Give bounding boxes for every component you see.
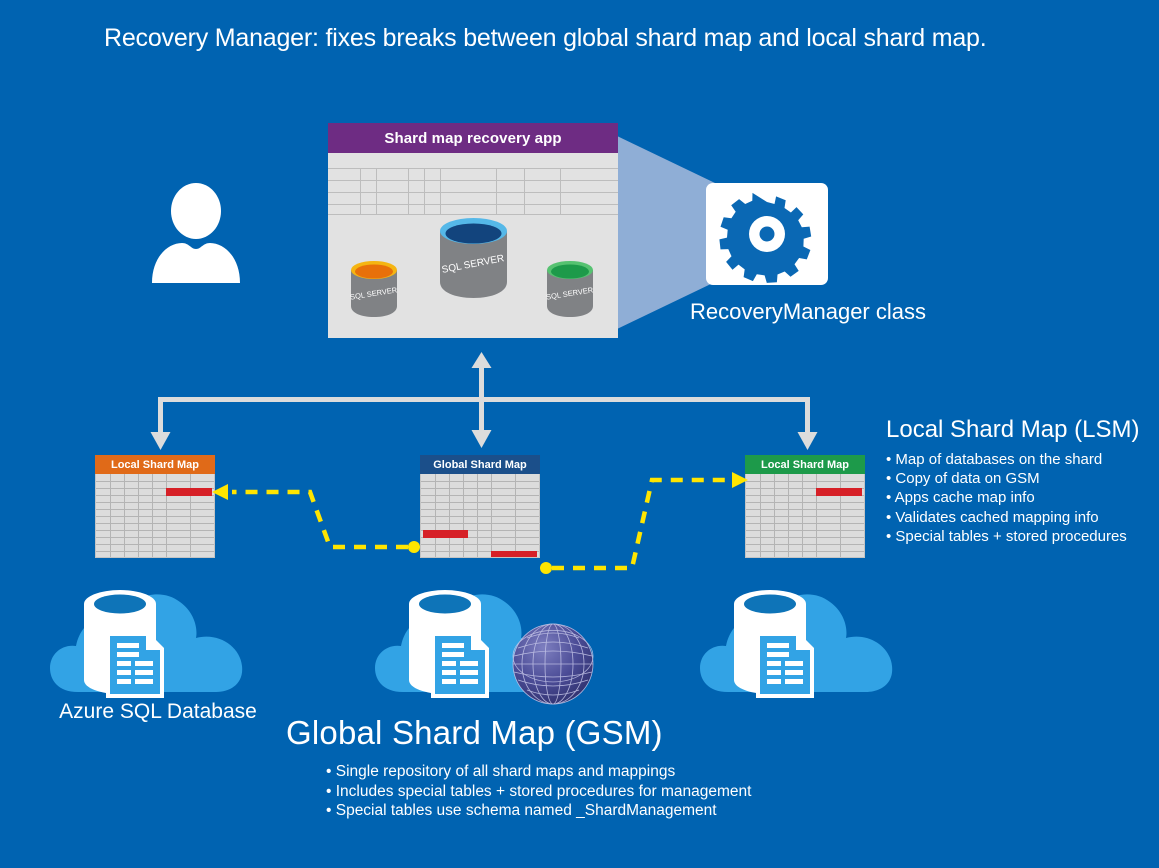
- sql-server-database-large-blue[interactable]: SQL SERVER: [436, 211, 511, 301]
- connector-left: [212, 484, 420, 553]
- lsm-heading: Local Shard Map (LSM): [886, 416, 1158, 444]
- gsm-bullet-list: • Single repository of all shard maps an…: [326, 762, 886, 821]
- list-item: • Validates cached mapping info: [886, 508, 1158, 527]
- app-window-title: Shard map recovery app: [328, 123, 618, 153]
- connector-right: [540, 472, 748, 574]
- gsm-info-block: Global Shard Map (GSM) • Single reposito…: [286, 714, 886, 821]
- list-item: • Special tables + stored procedures: [886, 527, 1158, 546]
- list-item: • Includes special tables + stored proce…: [326, 782, 886, 802]
- shard-map-recovery-app-window[interactable]: Shard map recovery app SQL SERVER: [328, 123, 618, 338]
- azure-sql-database-icon[interactable]: [48, 580, 263, 700]
- azure-sql-database-label: Azure SQL Database: [38, 700, 278, 724]
- gear-icon: [706, 183, 828, 285]
- list-item: • Single repository of all shard maps an…: [326, 762, 886, 782]
- recovery-manager-tile[interactable]: [706, 183, 828, 285]
- list-item: • Copy of data on GSM: [886, 469, 1158, 488]
- list-item: • Apps cache map info: [886, 488, 1158, 507]
- lsm-info-block: Local Shard Map (LSM) • Map of databases…: [886, 416, 1158, 546]
- lsm-bullet-list: • Map of databases on the shard • Copy o…: [886, 450, 1158, 546]
- list-item: • Map of databases on the shard: [886, 450, 1158, 469]
- list-item: • Special tables use schema named _Shard…: [326, 801, 886, 821]
- sql-server-database-small-green[interactable]: SQL SERVER: [544, 256, 596, 318]
- diagram-canvas: Recovery Manager: fixes breaks between g…: [0, 0, 1159, 868]
- sql-server-database-small-orange[interactable]: SQL SERVER: [348, 256, 400, 318]
- user-icon: [148, 183, 244, 283]
- gsm-heading: Global Shard Map (GSM): [286, 714, 886, 752]
- globe-icon: [511, 622, 595, 706]
- page-title: Recovery Manager: fixes breaks between g…: [104, 24, 987, 53]
- azure-sql-database-icon[interactable]: [698, 580, 913, 700]
- recovery-manager-label: RecoveryManager class: [678, 299, 938, 325]
- app-window-grid: [328, 159, 618, 214]
